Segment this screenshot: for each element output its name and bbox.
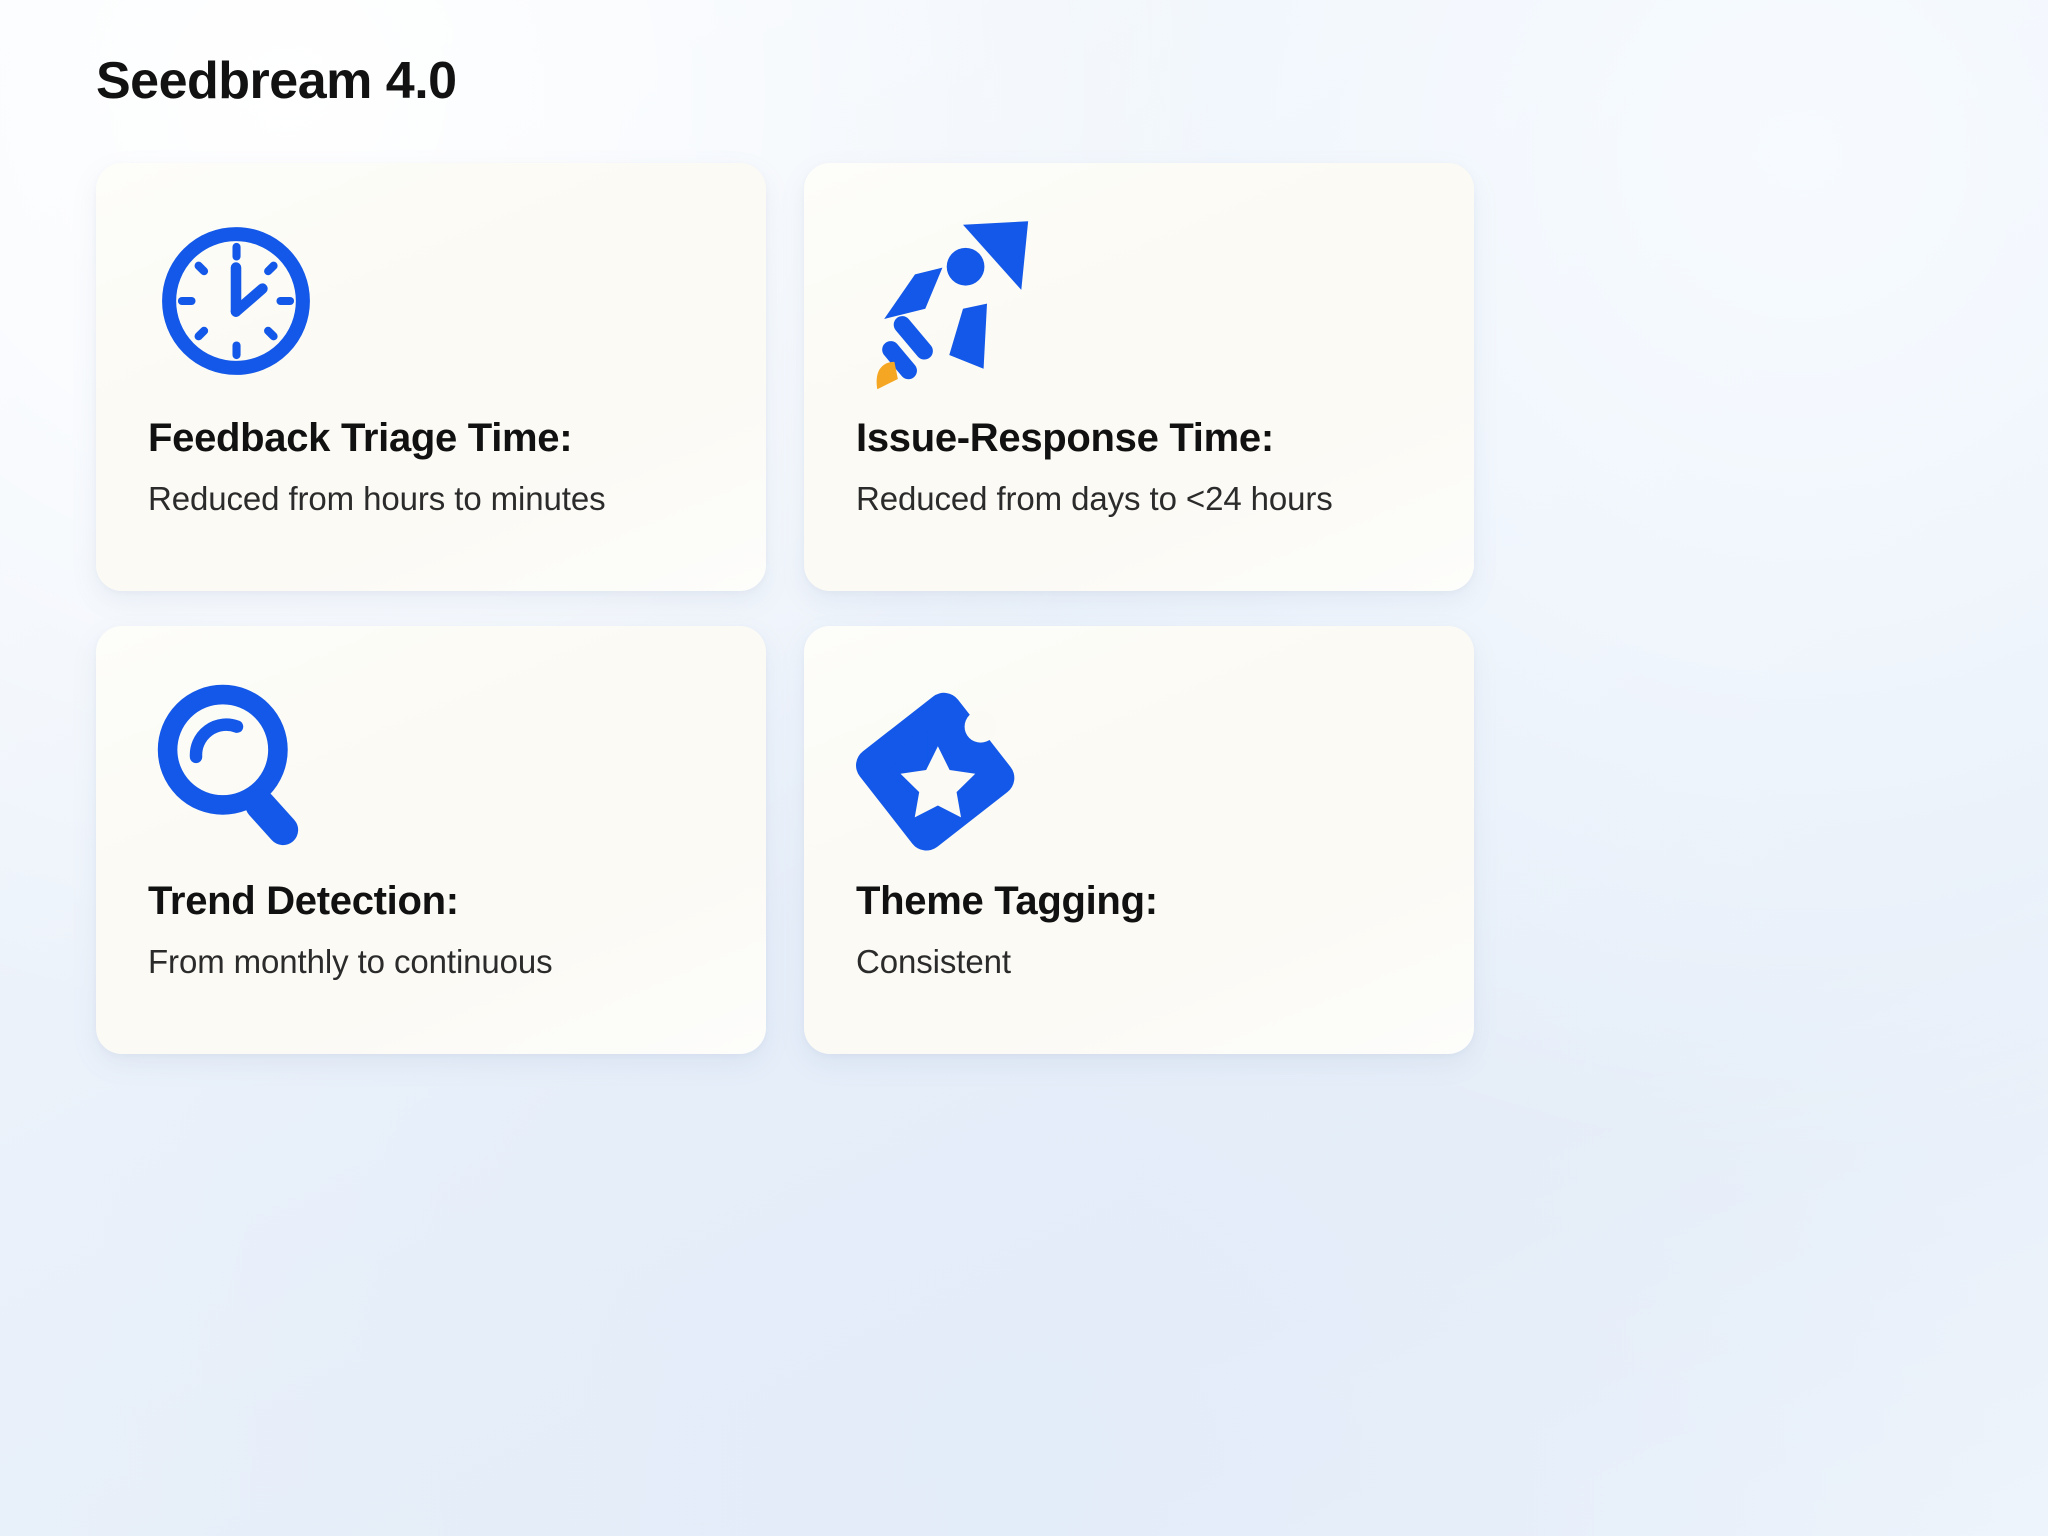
metric-card-issue-response-time[interactable]: Issue-Response Time: Reduced from days t… — [804, 163, 1474, 591]
card-title: Theme Tagging: — [856, 878, 1422, 924]
metric-card-trend-detection[interactable]: Trend Detection: From monthly to continu… — [96, 626, 766, 1054]
metric-card-feedback-triage-time[interactable]: Feedback Triage Time: Reduced from hours… — [96, 163, 766, 591]
card-title: Issue-Response Time: — [856, 415, 1422, 461]
magnifier-icon-wrapper — [148, 674, 714, 854]
tag-icon-wrapper — [856, 674, 1422, 854]
clock-icon — [148, 213, 324, 389]
page-title: Seedbream 4.0 — [96, 50, 457, 112]
card-subtitle: Reduced from hours to minutes — [148, 479, 714, 519]
card-title: Feedback Triage Time: — [148, 415, 714, 461]
card-subtitle: Consistent — [856, 942, 1422, 982]
card-title: Trend Detection: — [148, 878, 714, 924]
metrics-grid: Feedback Triage Time: Reduced from hours… — [96, 163, 1952, 1054]
tag-icon — [856, 675, 1034, 853]
clock-icon-wrapper — [148, 211, 714, 391]
rocket-icon-wrapper — [856, 211, 1422, 391]
card-subtitle: From monthly to continuous — [148, 942, 714, 982]
slide-canvas: Seedbream 4.0 Feedback Tri — [0, 0, 2048, 1536]
card-subtitle: Reduced from days to <24 hours — [856, 479, 1422, 519]
magnifier-icon — [148, 675, 326, 853]
metric-card-theme-tagging[interactable]: Theme Tagging: Consistent — [804, 626, 1474, 1054]
rocket-icon — [856, 211, 1046, 391]
